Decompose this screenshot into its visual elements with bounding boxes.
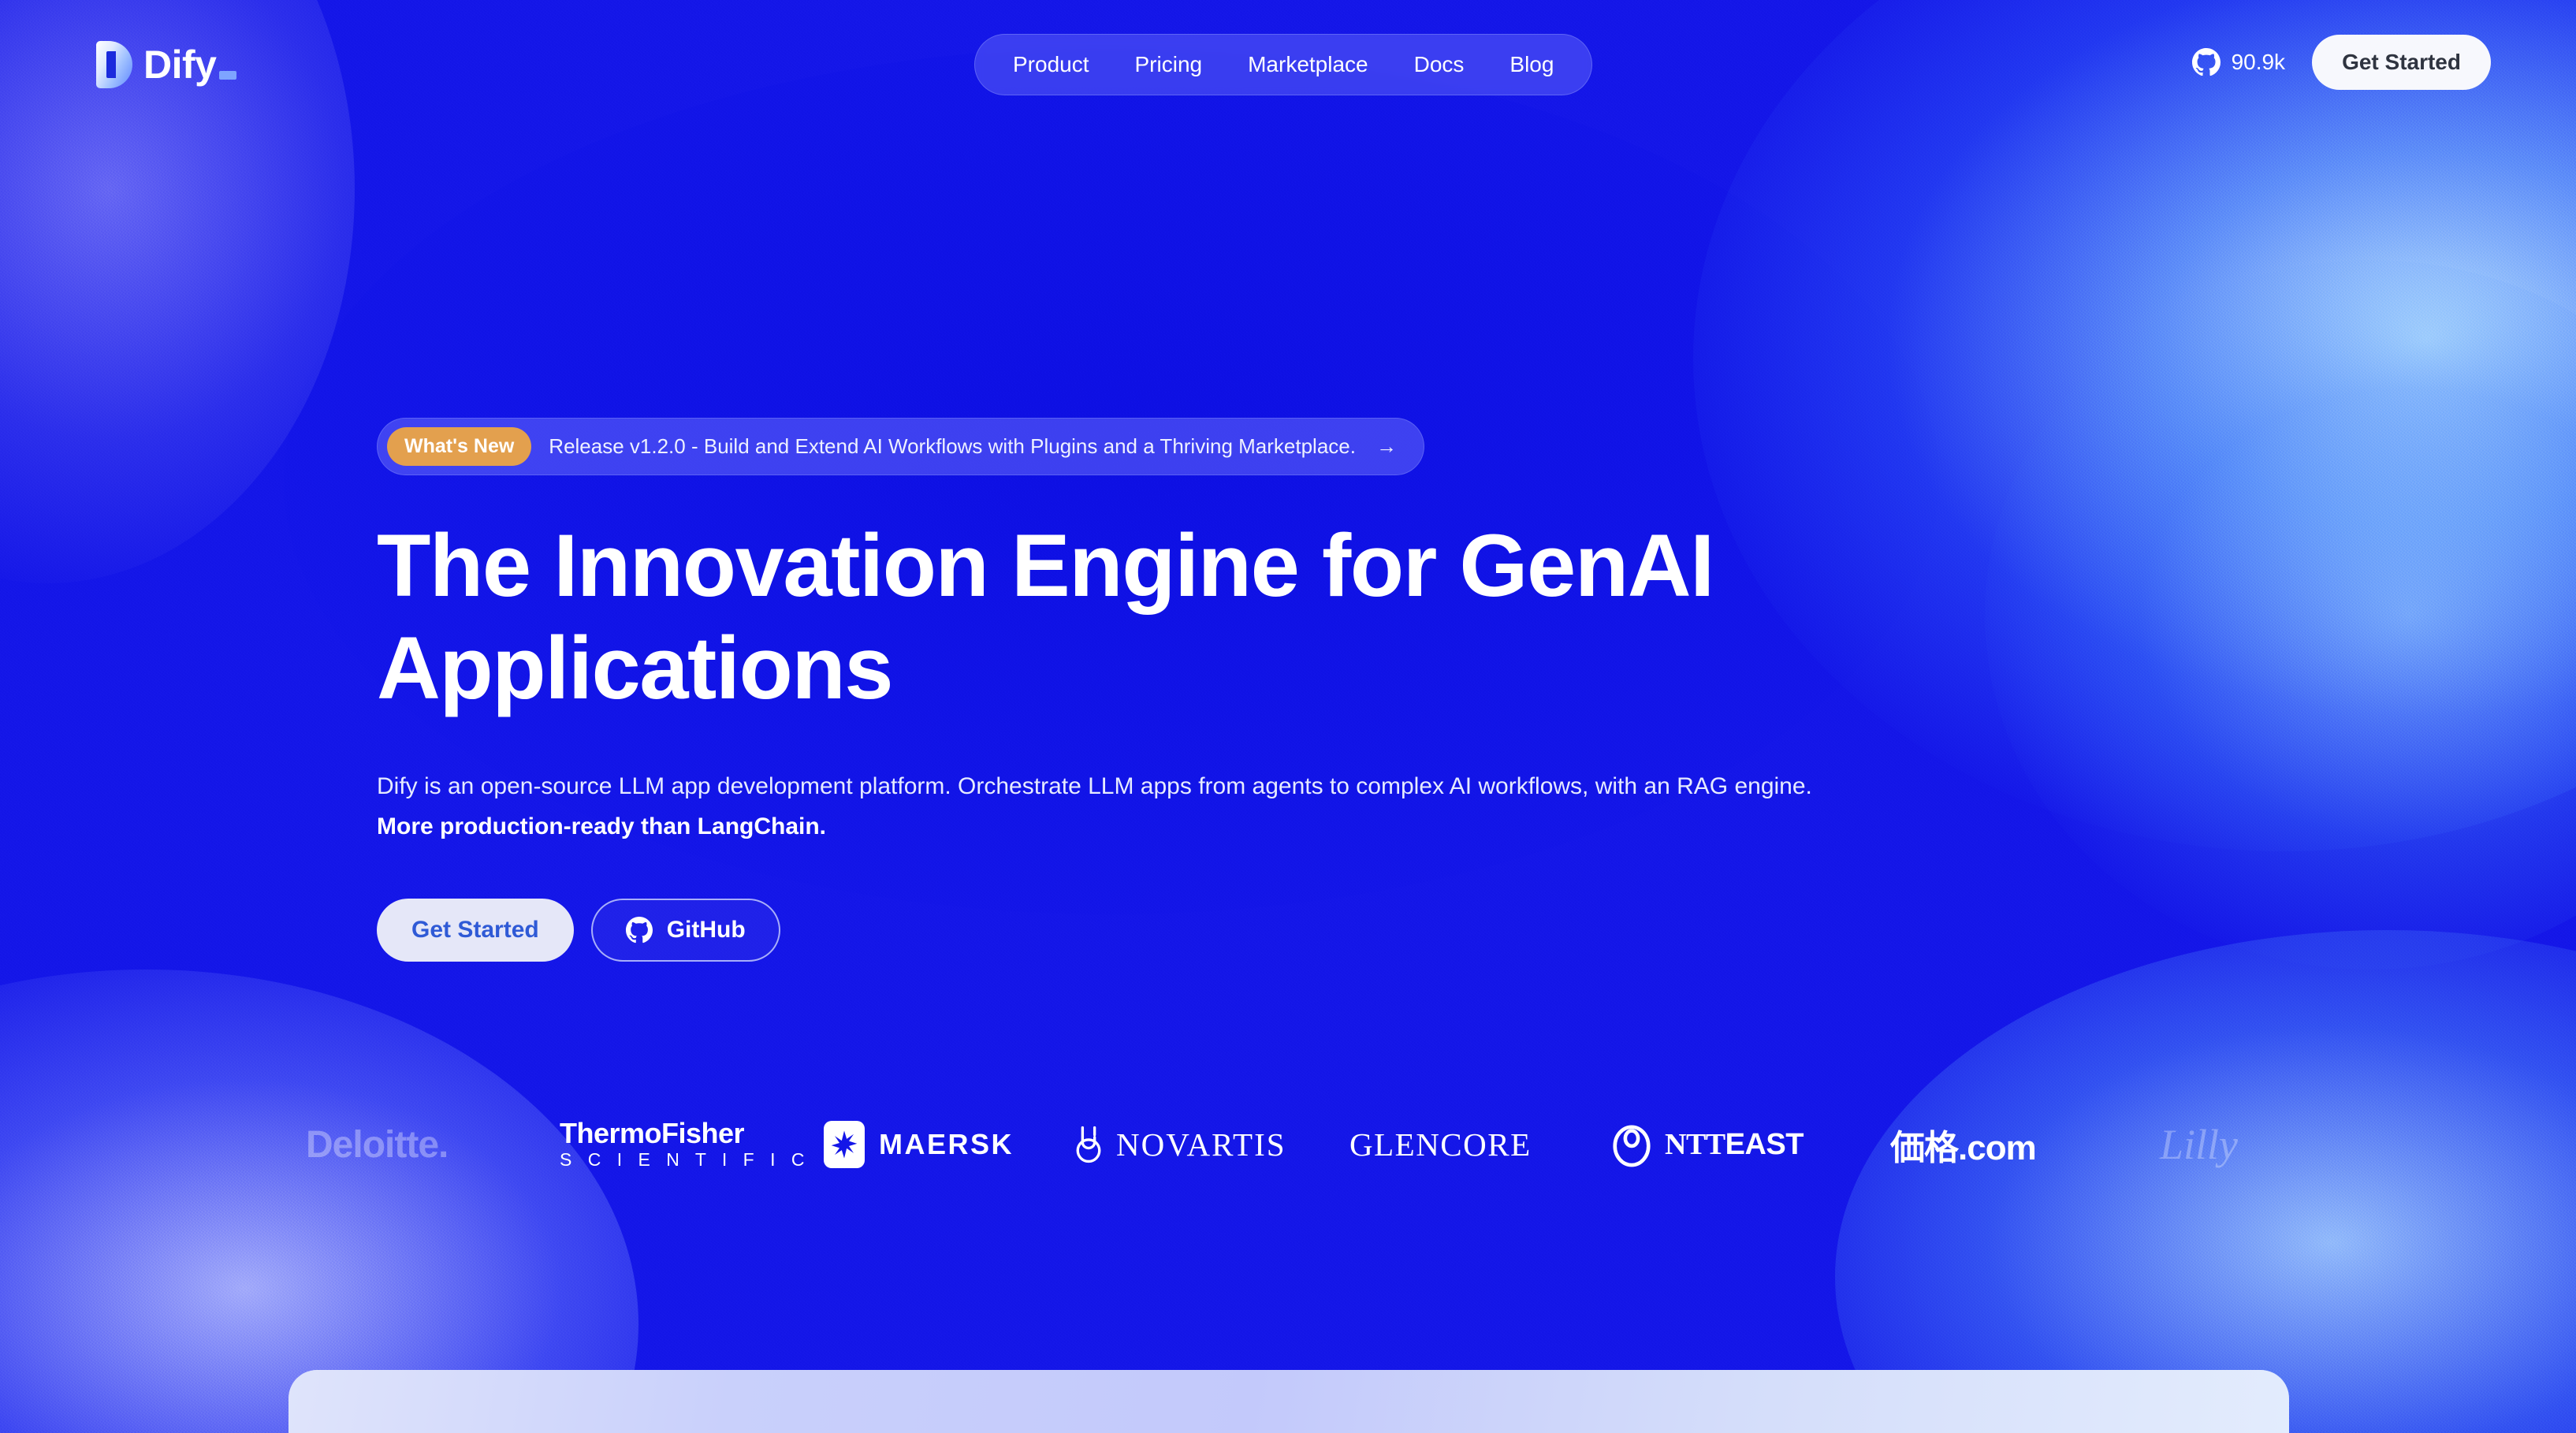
logo-glencore-text: GLENCORE <box>1349 1126 1532 1163</box>
maersk-star-icon <box>824 1121 865 1168</box>
page-title: The Innovation Engine for GenAI Applicat… <box>377 515 2032 720</box>
logo-glencore: GLENCORE <box>1349 1126 1532 1163</box>
hero-subtitle: Dify is an open-source LLM app developme… <box>377 769 2032 840</box>
logo-novartis: NOVARTIS <box>1074 1124 1286 1165</box>
content-card-below-fold <box>288 1370 2289 1433</box>
logo-wordmark: Dify <box>143 45 236 84</box>
logo-lilly-text: Lilly <box>2160 1120 2238 1169</box>
github-stars-link[interactable]: 90.9k <box>2192 48 2286 76</box>
logo-kakaku-com-text: 価格.com <box>1890 1119 2036 1170</box>
nav-item-product[interactable]: Product <box>996 43 1107 87</box>
hero-subtitle-line1: Dify is an open-source LLM app developme… <box>377 769 2032 804</box>
logo-text: Dify <box>143 43 216 87</box>
nav-item-pricing[interactable]: Pricing <box>1118 43 1220 87</box>
logo-thermo-fisher: ThermoFisher S C I E N T I F I C <box>560 1118 810 1171</box>
github-hero-button-label: GitHub <box>667 917 746 944</box>
hero-cta-row: Get Started GitHub <box>377 899 2032 962</box>
github-icon <box>626 917 653 944</box>
logo-maersk: MAERSK <box>824 1121 1014 1168</box>
logo-lilly: Lilly <box>2160 1120 2238 1169</box>
arrow-right-icon: → <box>1376 434 1397 459</box>
logo-maersk-text: MAERSK <box>879 1128 1014 1161</box>
hero-section: What's New Release v1.2.0 - Build and Ex… <box>377 418 2032 962</box>
get-started-header-button[interactable]: Get Started <box>2312 35 2491 90</box>
whats-new-badge: What's New <box>387 427 531 466</box>
logo-thermo-fisher-subtext: S C I E N T I F I C <box>560 1148 810 1171</box>
site-header: Dify Product Pricing Marketplace Docs Bl… <box>0 0 2576 139</box>
logo-ntt-east-text: NTTEAST <box>1665 1127 1804 1162</box>
novartis-flame-icon <box>1074 1124 1104 1165</box>
nav-item-blog[interactable]: Blog <box>1492 43 1571 87</box>
logo-thermo-fisher-text: ThermoFisher <box>560 1118 744 1148</box>
logo-deloitte-text: Deloitte. <box>306 1123 448 1167</box>
announcement-text: Release v1.2.0 - Build and Extend AI Wor… <box>549 434 1356 459</box>
hero-subtitle-line2: More production-ready than LangChain. <box>377 813 2032 840</box>
header-actions: 90.9k Get Started <box>2192 35 2491 90</box>
announcement-banner[interactable]: What's New Release v1.2.0 - Build and Ex… <box>377 418 1424 475</box>
get-started-hero-button[interactable]: Get Started <box>377 899 574 962</box>
text-cursor-icon <box>219 71 236 80</box>
dify-d-mark-icon <box>96 41 132 88</box>
nav-item-marketplace[interactable]: Marketplace <box>1230 43 1386 87</box>
dify-logo[interactable]: Dify <box>96 41 236 88</box>
github-icon <box>2192 48 2220 76</box>
logo-ntt-east: NTTEAST <box>1611 1122 1804 1167</box>
ntt-circle-icon <box>1611 1122 1652 1167</box>
github-hero-button[interactable]: GitHub <box>591 899 780 962</box>
main-navigation: Product Pricing Marketplace Docs Blog <box>974 34 1592 95</box>
logo-kakaku-com: 価格.com <box>1890 1119 2036 1170</box>
logo-deloitte: Deloitte. <box>306 1123 448 1167</box>
customer-logos-strip: Deloitte. ThermoFisher S C I E N T I F I… <box>0 1104 2576 1185</box>
logo-novartis-text: NOVARTIS <box>1116 1126 1286 1163</box>
nav-item-docs[interactable]: Docs <box>1397 43 1482 87</box>
github-star-count: 90.9k <box>2232 50 2286 75</box>
